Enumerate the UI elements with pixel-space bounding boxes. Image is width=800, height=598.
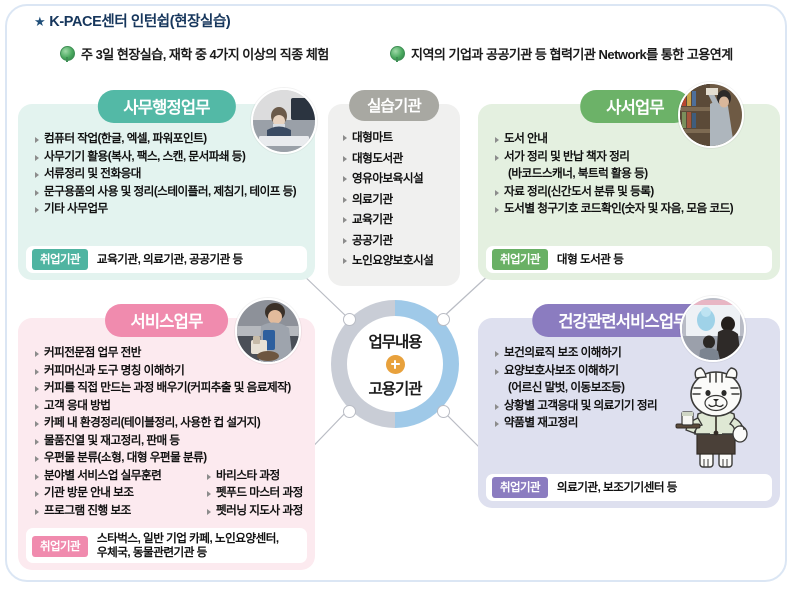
card-practice-institutions-list: 대형마트 대형도서관 영유아보육시설 의료기관 교육기관 공공기관 노인요양보호…	[342, 128, 454, 272]
card-service-two-columns: 분야별 서비스업 실무훈련 기관 방문 안내 보조 프로그램 진행 보조 바리스…	[34, 467, 307, 520]
header-bullet-2: 지역의 기업과 공공기관 등 협력기관 Network를 통한 고용연계	[390, 44, 733, 63]
list-item: 서류정리 및 전화응대	[34, 165, 305, 183]
card-library[interactable]: 사서업무 도서 안내	[478, 104, 780, 280]
card-library-list: 도서 안내 서가 정리 및 반납 책자 정리 (바코드스캐너, 북트럭 활용 등…	[494, 130, 772, 218]
list-item: 우편물 분류(소형, 대형 우편물 분류)	[34, 449, 307, 467]
status-badge: 취업기관	[32, 536, 88, 557]
list-item: 기타 사무업무	[34, 200, 305, 218]
card-library-body: 도서 안내 서가 정리 및 반납 책자 정리 (바코드스캐너, 북트럭 활용 등…	[494, 130, 772, 218]
list-item: 자료 정리(신간도서 분류 및 등록)	[494, 183, 772, 201]
card-office-admin-footer-text: 교육기관, 의료기관, 공공기관 등	[97, 253, 243, 267]
card-service[interactable]: 서비스업무 커피전문점 업무 전반 커피머신과 도구 명칭 이해하기 커피를 직…	[18, 318, 315, 570]
infographic-canvas: ★K-PACE센터 인턴쉽(현장실습) 주 3일 현장실습, 재학 중 4가지 …	[0, 0, 800, 598]
list-item: 물품진열 및 재고정리, 판매 등	[34, 432, 307, 450]
status-badge: 취업기관	[32, 249, 88, 270]
list-item: 펫러닝 지도사 과정	[206, 502, 303, 520]
status-badge: 취업기관	[492, 477, 548, 498]
card-service-footer-line2: 우체국, 동물관련기관 등	[97, 546, 207, 559]
card-health-service[interactable]: 건강관련서비스업무 보건의료직 보조 이해하기 요양보호사보조 이해하기 (어르…	[478, 318, 780, 508]
page-title-text: K-PACE센터 인턴쉽(현장실습)	[49, 14, 230, 30]
card-health-service-footer-text: 의료기관, 보조기기센터 등	[557, 481, 677, 495]
header-bullets: 주 3일 현장실습, 재학 중 4가지 이상의 직종 체험 지역의 기업과 공공…	[60, 44, 780, 70]
list-item: 기관 방문 안내 보조	[34, 484, 192, 502]
header-bullet-2-text: 지역의 기업과 공공기관 등 협력기관 Network를 통한 고용연계	[411, 47, 733, 62]
card-service-title: 서비스업무	[105, 304, 229, 337]
list-item: 공공기관	[342, 231, 454, 252]
card-service-footer-line1: 스타벅스, 일반 기업 카페, 노인요양센터,	[97, 532, 279, 545]
card-practice-institutions[interactable]: 실습기관 대형마트 대형도서관 영유아보육시설 의료기관 교육기관 공공기관 노…	[328, 104, 460, 286]
list-item: 사무기기 활용(복사, 팩스, 스캔, 문서파쇄 등)	[34, 148, 305, 166]
card-practice-institutions-title: 실습기관	[349, 90, 439, 121]
list-item-sub: (바코드스캐너, 북트럭 활용 등)	[494, 165, 772, 183]
list-item: 분야별 서비스업 실무훈련	[34, 467, 192, 485]
card-office-admin-title: 사무행정업무	[97, 90, 235, 123]
list-item: 도서별 청구기호 코드확인(숫자 및 자음, 모음 코드)	[494, 200, 772, 218]
connector-node-bottom-left	[343, 405, 356, 418]
list-item: 카페 내 환경정리(테이블정리, 사용한 컵 설거지)	[34, 414, 307, 432]
star-icon: ★	[34, 14, 45, 29]
card-service-column-right: 바리스타 과정 펫푸드 마스터 과정 펫러닝 지도사 과정	[206, 467, 303, 520]
white-tiger-mascot-icon	[670, 364, 762, 472]
card-service-footer-text: 스타벅스, 일반 기업 카페, 노인요양센터, 우체국, 동물관련기관 등	[97, 532, 279, 560]
connector-node-bottom-right	[437, 405, 450, 418]
barista-photo	[235, 298, 301, 364]
list-item: 대형마트	[342, 128, 454, 149]
connector-node-top-left	[343, 313, 356, 326]
card-practice-institutions-body: 대형마트 대형도서관 영유아보육시설 의료기관 교육기관 공공기관 노인요양보호…	[342, 128, 454, 272]
list-item: 펫푸드 마스터 과정	[206, 484, 303, 502]
list-item: 고객 응대 방법	[34, 397, 307, 415]
list-item: 서가 정리 및 반납 책자 정리	[494, 148, 772, 166]
card-office-admin-footer: 취업기관 교육기관, 의료기관, 공공기관 등	[26, 246, 307, 273]
connector-node-top-right	[437, 313, 450, 326]
status-badge: 취업기관	[492, 249, 548, 270]
card-health-service-footer: 취업기관 의료기관, 보조기기센터 등	[486, 474, 772, 501]
card-library-title: 사서업무	[580, 90, 690, 123]
card-library-footer-text: 대형 도서관 등	[557, 253, 623, 267]
header-bullet-1-text: 주 3일 현장실습, 재학 중 4가지 이상의 직종 체험	[81, 47, 329, 62]
list-item: 커피머신과 도구 명칭 이해하기	[34, 362, 307, 380]
hub-inner: 업무내용 고용기관	[347, 316, 443, 412]
list-item: 교육기관	[342, 210, 454, 231]
office-worker-photo	[251, 88, 317, 154]
list-item: 의료기관	[342, 190, 454, 211]
list-item: 문구용품의 사용 및 정리(스테이플러, 제침기, 테이프 등)	[34, 183, 305, 201]
list-item: 노인요양보호시설	[342, 251, 454, 272]
card-service-column-left: 분야별 서비스업 실무훈련 기관 방문 안내 보조 프로그램 진행 보조	[34, 467, 192, 520]
card-office-admin[interactable]: 사무행정업무 컴퓨터 작업(한글, 엑셀, 파워포인트) 사무기기 활용(복사,…	[18, 104, 315, 280]
health-class-photo	[680, 296, 746, 362]
list-item: 바리스타 과정	[206, 467, 303, 485]
page-title: ★K-PACE센터 인턴쉽(현장실습)	[34, 10, 230, 31]
plus-badge-icon	[386, 355, 405, 374]
hub-top-label: 업무내용	[368, 330, 421, 352]
location-pin-icon	[390, 46, 405, 61]
card-library-footer: 취업기관 대형 도서관 등	[486, 246, 772, 273]
card-service-body: 커피전문점 업무 전반 커피머신과 도구 명칭 이해하기 커피를 직접 만드는 …	[34, 344, 307, 519]
card-service-footer: 취업기관 스타벅스, 일반 기업 카페, 노인요양센터, 우체국, 동물관련기관…	[26, 528, 307, 563]
list-item: 대형도서관	[342, 149, 454, 170]
header-bullet-1: 주 3일 현장실습, 재학 중 4가지 이상의 직종 체험	[60, 44, 329, 63]
list-item: 영유아보육시설	[342, 169, 454, 190]
librarian-photo	[678, 82, 744, 148]
list-item: 커피를 직접 만드는 과정 배우기(커피추출 및 음료제작)	[34, 379, 307, 397]
hub-bottom-label: 고용기관	[368, 377, 421, 399]
list-item: 프로그램 진행 보조	[34, 502, 192, 520]
location-pin-icon	[60, 46, 75, 61]
